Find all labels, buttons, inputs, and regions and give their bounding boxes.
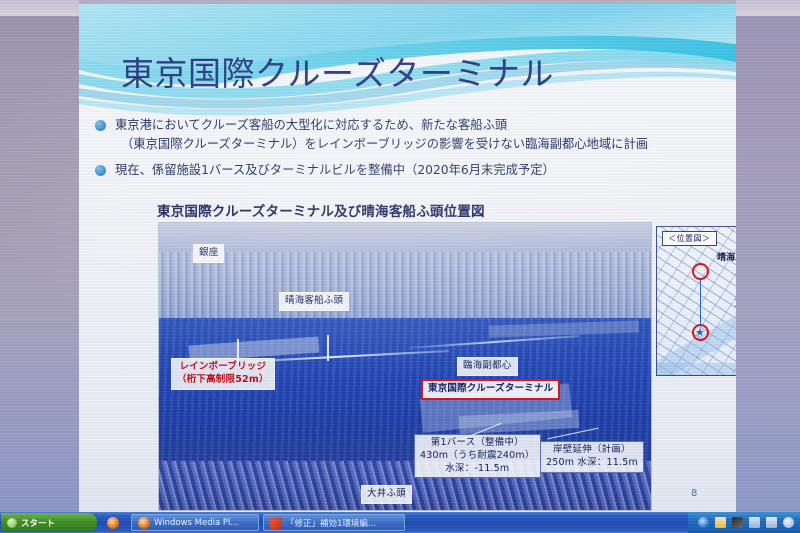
quay-line-1: 岸壁延伸（計画） bbox=[553, 444, 631, 455]
list-item: 東京港においてクルーズ客船の大型化に対応するため、新たな客船ふ頭 （東京国際クル… bbox=[91, 116, 736, 153]
volume-icon[interactable] bbox=[766, 517, 777, 528]
inset-marker-harumi bbox=[692, 263, 709, 280]
bullet-1-line-2: （東京国際クルーズターミナル）をレインボーブリッジの影響を受けない臨海副都心地域… bbox=[115, 135, 648, 154]
rainbow-bridge-line-2: （桁下高制限52m） bbox=[177, 374, 269, 385]
powerpoint-icon bbox=[270, 517, 282, 529]
photo-callout-berth1: 第1バース（整備中） 430m（うち耐震240m） 水深：-11.5m bbox=[414, 434, 541, 478]
figure-caption: 東京国際クルーズターミナル及び晴海客船ふ頭位置図 bbox=[157, 200, 485, 220]
inset-star-icon: ★ bbox=[695, 327, 705, 338]
bullet-list: 東京港においてクルーズ客船の大型化に対応するため、新たな客船ふ頭 （東京国際クル… bbox=[91, 116, 736, 188]
desktop-left-band bbox=[0, 0, 79, 512]
media-player-icon bbox=[138, 517, 150, 529]
bullet-text-block: 東京港においてクルーズ客船の大型化に対応するため、新たな客船ふ頭 （東京国際クル… bbox=[115, 116, 648, 153]
berth1-line-1: 第1バース（整備中） bbox=[431, 437, 524, 448]
inset-map-title: ＜位置図＞ bbox=[662, 231, 717, 246]
desktop-right-band bbox=[736, 0, 800, 512]
clock-icon[interactable] bbox=[783, 517, 794, 528]
inset-label-harumi: 晴海ふ頭 bbox=[717, 253, 736, 264]
inset-terminal-line-1: 東京国際 bbox=[735, 299, 736, 309]
aerial-photo: 銀座 晴海客船ふ頭 レインボーブリッジ （桁下高制限52m） 臨海副都心 東京国… bbox=[158, 222, 652, 511]
media-player-quicklaunch-icon[interactable] bbox=[107, 517, 119, 529]
windows-logo-icon bbox=[7, 518, 17, 528]
photo-label-waterfront: 臨海副都心 bbox=[457, 357, 518, 376]
photo-label-harumi-pier: 晴海客船ふ頭 bbox=[279, 292, 349, 311]
quay-line-2: 250m 水深：11.5m bbox=[546, 457, 638, 468]
taskbar-item-media-player[interactable]: Windows Media Pl... bbox=[131, 514, 259, 531]
photo-far-city bbox=[159, 252, 651, 327]
page-title: 東京国際クルーズターミナル bbox=[121, 56, 721, 93]
berth1-line-3: 水深：-11.5m bbox=[445, 463, 509, 474]
bullet-2-line-1: 現在、係留施設1バース及びターミナルビルを整備中（2020年6月末完成予定） bbox=[115, 163, 555, 177]
start-button-label: スタート bbox=[21, 517, 55, 529]
bullet-dot-icon bbox=[95, 165, 106, 176]
bullet-dot-icon bbox=[95, 120, 106, 131]
taskbar-item-label: Windows Media Pl... bbox=[154, 518, 238, 528]
quick-launch-bar[interactable] bbox=[97, 517, 127, 529]
berth1-line-2: 430m（うち耐震240m） bbox=[420, 450, 535, 461]
photo-callout-quay-extension: 岸壁延伸（計画） 250m 水深：11.5m bbox=[540, 441, 644, 473]
photo-label-cruise-terminal: 東京国際クルーズターミナル bbox=[421, 379, 560, 400]
photo-label-oi-pier: 大井ふ頭 bbox=[361, 485, 412, 504]
taskbar-item-label: 「修正」補効1環境編... bbox=[286, 517, 376, 529]
inset-bay bbox=[657, 363, 736, 376]
inset-terminal-line-2: クルーズ bbox=[735, 310, 736, 320]
photo-label-rainbow-bridge: レインボーブリッジ （桁下高制限52m） bbox=[171, 358, 275, 390]
flag-icon[interactable] bbox=[749, 517, 760, 528]
inset-connector-line bbox=[700, 279, 701, 325]
photo-label-ginza: 銀座 bbox=[193, 244, 224, 263]
folder-icon[interactable] bbox=[715, 517, 726, 528]
screenshot-root: 東京国際クルーズターミナル 東京港においてクルーズ客船の大型化に対応するため、新… bbox=[0, 0, 800, 533]
bullet-text-block: 現在、係留施設1バース及びターミナルビルを整備中（2020年6月末完成予定） bbox=[115, 161, 555, 180]
presentation-slide: 東京国際クルーズターミナル 東京港においてクルーズ客船の大型化に対応するため、新… bbox=[79, 4, 736, 512]
inset-terminal-line-3: ターミナル bbox=[735, 322, 736, 332]
network-icon[interactable] bbox=[732, 517, 743, 528]
inset-label-terminal: 東京国際 クルーズ ターミナル bbox=[735, 299, 736, 333]
list-item: 現在、係留施設1バース及びターミナルビルを整備中（2020年6月末完成予定） bbox=[91, 161, 736, 180]
taskbar-item-powerpoint[interactable]: 「修正」補効1環境編... bbox=[263, 514, 405, 531]
bullet-1-line-1: 東京港においてクルーズ客船の大型化に対応するため、新たな客船ふ頭 bbox=[115, 118, 507, 132]
security-icon[interactable] bbox=[698, 517, 709, 528]
photo-bridge-pylon-right bbox=[327, 335, 329, 361]
slide-page-number: 8 bbox=[691, 488, 697, 499]
rainbow-bridge-line-1: レインボーブリッジ bbox=[179, 361, 266, 372]
start-button[interactable]: スタート bbox=[1, 513, 97, 532]
taskbar[interactable]: スタート Windows Media Pl... 「修正」補効1環境編... bbox=[0, 512, 800, 533]
inset-location-map: ＜位置図＞ 晴海ふ頭 東京国際 クルーズ ターミナル ★ bbox=[656, 226, 736, 376]
system-tray[interactable] bbox=[688, 512, 800, 533]
